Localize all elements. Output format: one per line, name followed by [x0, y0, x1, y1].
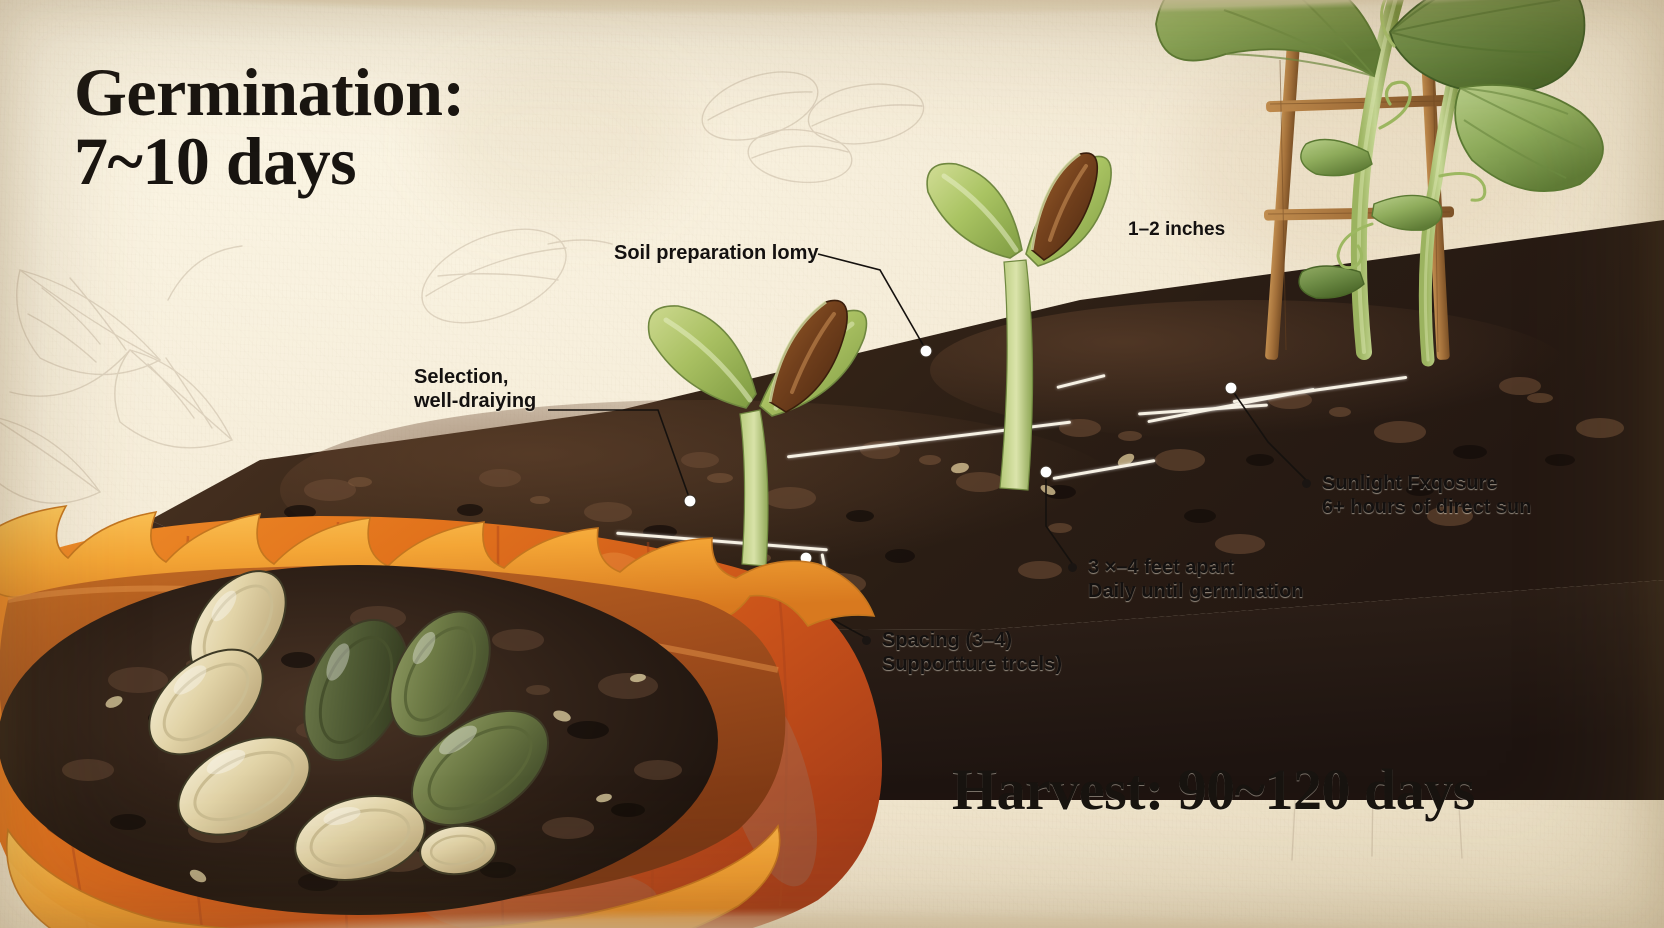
- page-title-germination: Germination: 7~10 days: [74, 58, 465, 197]
- pumpkin-bowl-with-seeds: [0, 430, 898, 928]
- annotation-spacing: Spacing (3–4) Supportture trcels): [882, 628, 1062, 677]
- infographic-canvas: Germination: 7~10 days Harvest: 90~120 d…: [0, 0, 1664, 928]
- page-title-harvest: Harvest: 90~120 days: [952, 760, 1475, 819]
- paper-edge-bottom: [0, 896, 1664, 928]
- bullet-icon-feet-apart: [1068, 563, 1077, 572]
- bullet-icon-sunlight: [1302, 479, 1311, 488]
- annotation-selection: Selection, well-draiying: [414, 365, 536, 414]
- annotation-feet-apart: 3 ×–4 feet apart Daily until germination: [1088, 555, 1304, 604]
- paper-edge-top: [0, 0, 1664, 26]
- annotation-sunlight: Sunlight Fxqosure 6+ hours of direct sun: [1322, 471, 1531, 520]
- annotation-soil-preparation: Soil preparation lomy: [614, 241, 818, 265]
- annotation-planting-depth: 1–2 inches: [1128, 218, 1225, 241]
